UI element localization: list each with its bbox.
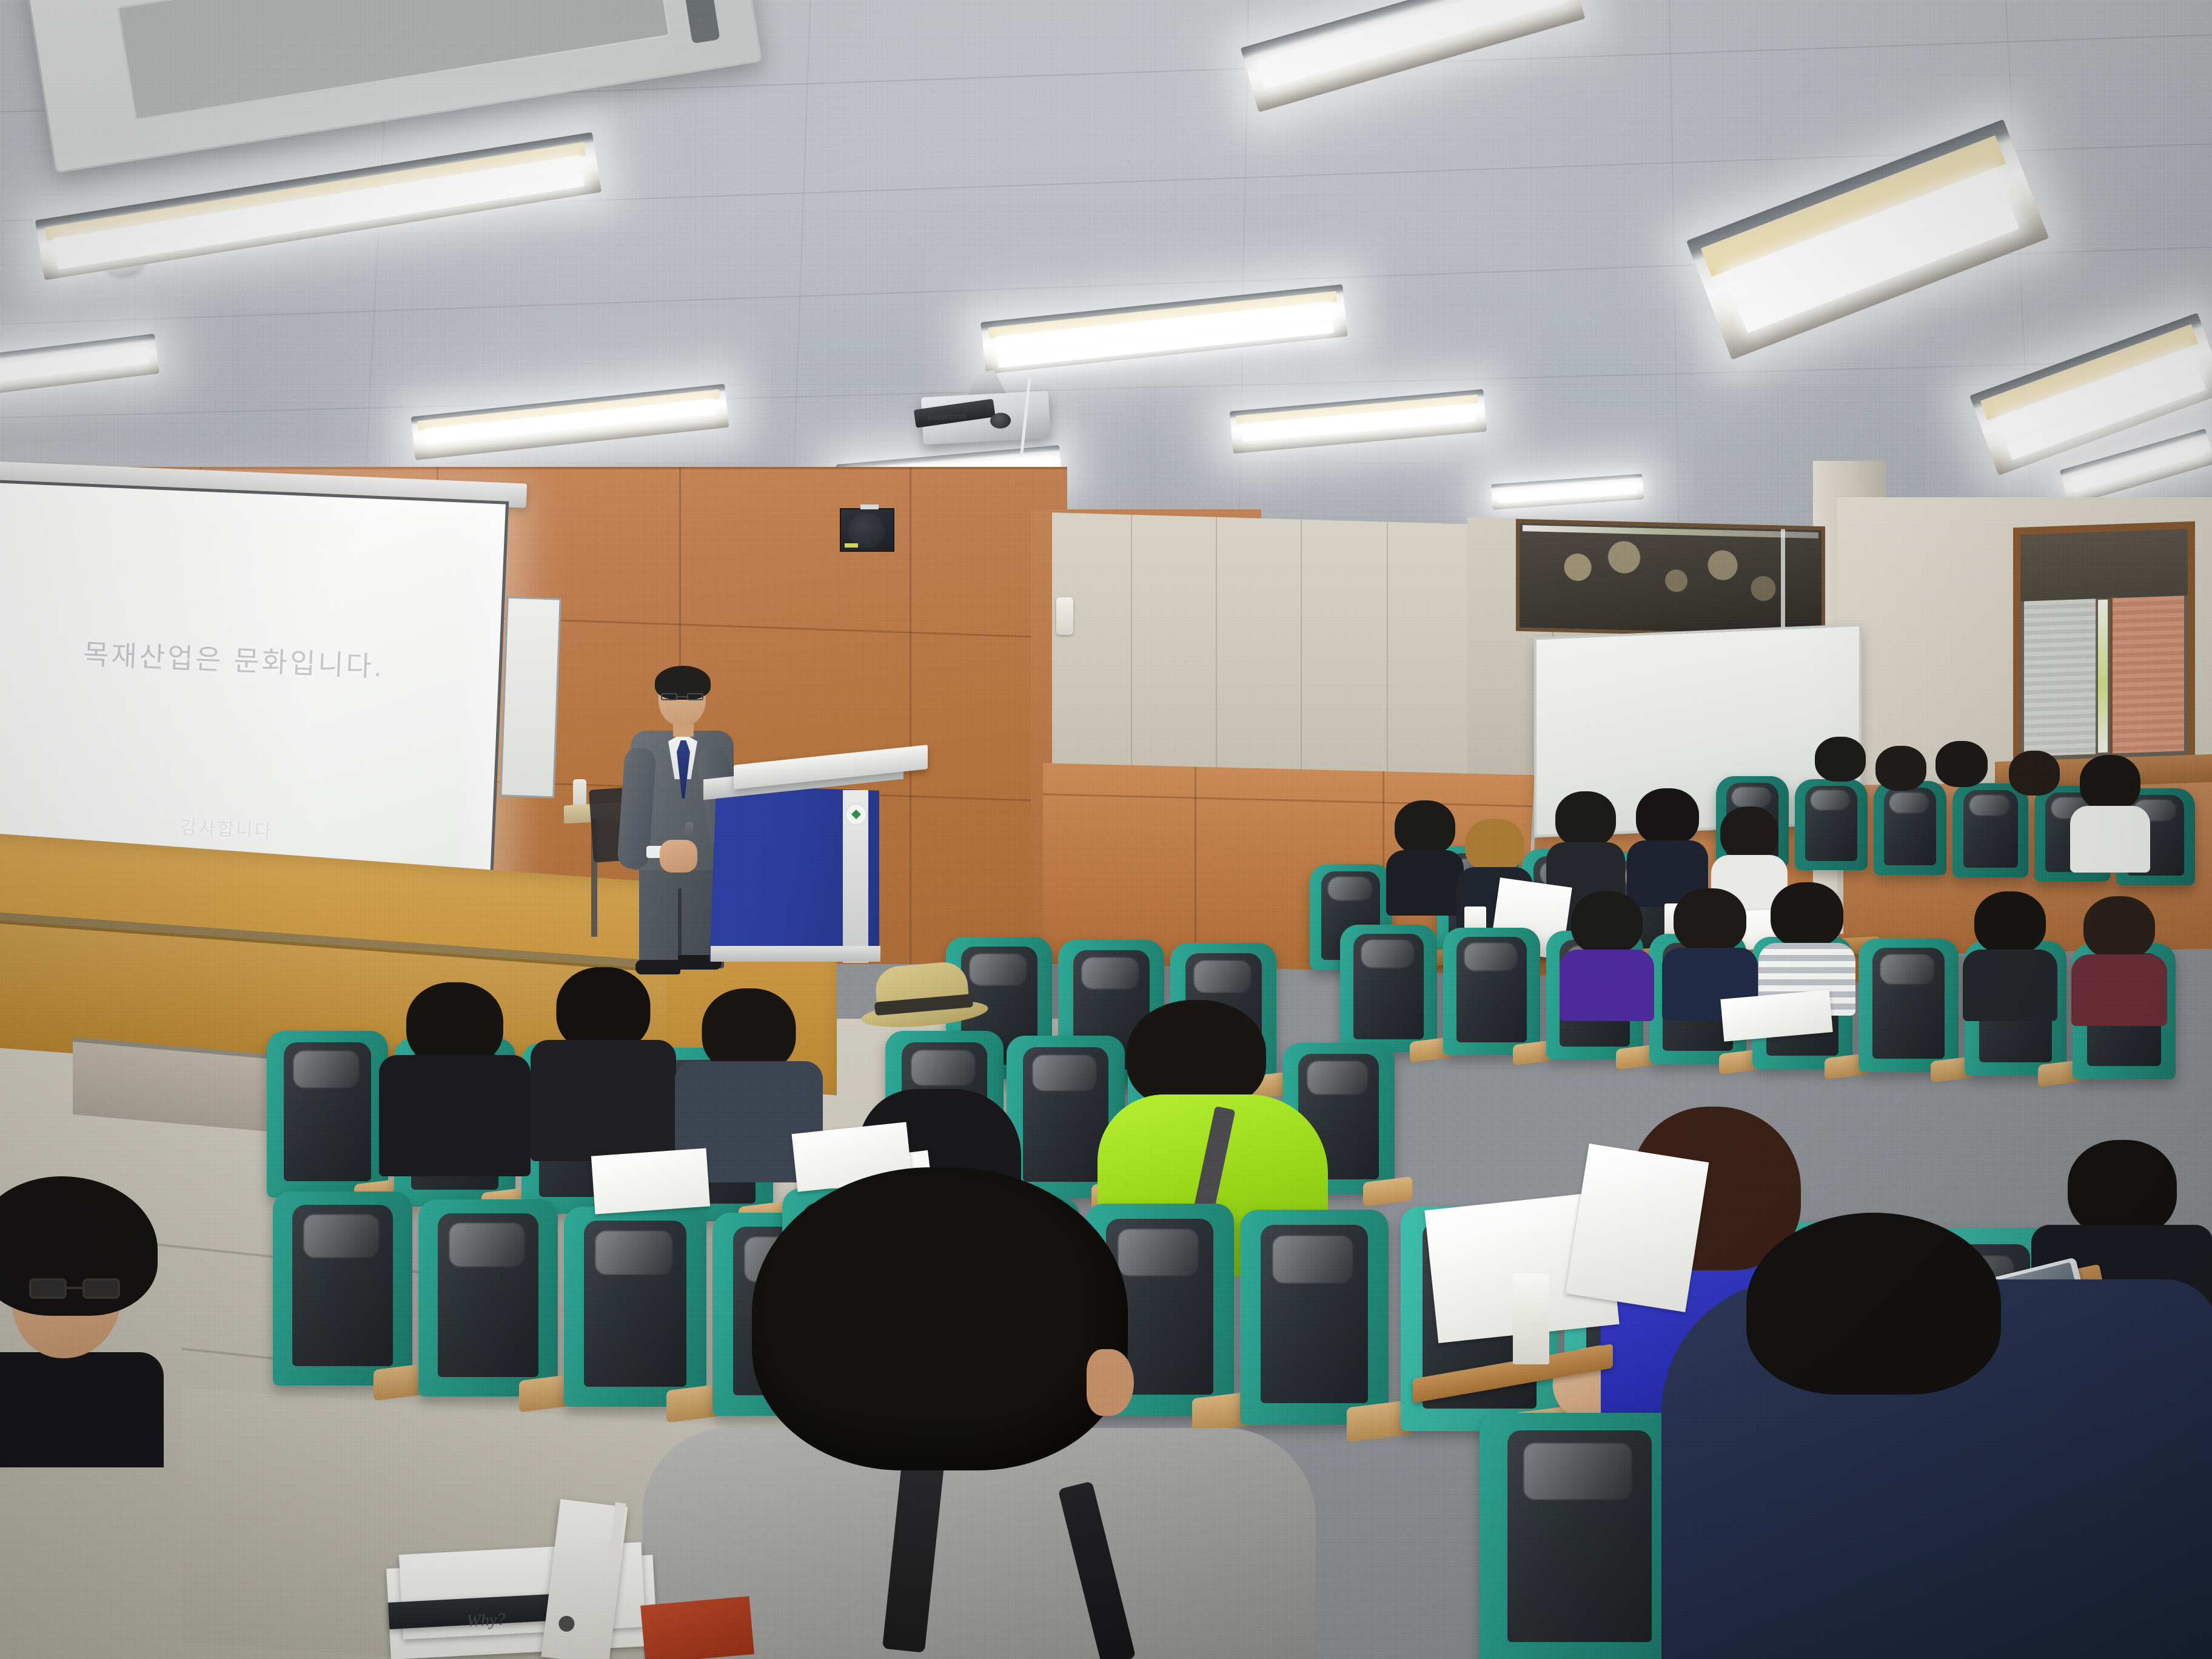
auditorium-seat xyxy=(267,1031,388,1198)
audience-member xyxy=(1874,746,1928,800)
audience-member xyxy=(1761,882,1852,997)
side-wall-board xyxy=(500,597,561,799)
photo-scene: PROJECTOR 목재산업은 문화입 xyxy=(0,0,2212,1659)
audience-member xyxy=(2007,751,2062,805)
lectern-base xyxy=(711,946,880,962)
audience-member xyxy=(2074,896,2165,1011)
audience-member xyxy=(1664,888,1755,1004)
clerestory-window xyxy=(1516,519,1825,638)
straw-hat xyxy=(857,959,990,1042)
audience-member xyxy=(1813,737,1868,791)
book-cover-red xyxy=(640,1596,754,1659)
window-blinds xyxy=(2013,521,2195,770)
ceiling-projector: PROJECTOR xyxy=(920,373,1050,446)
audience-member xyxy=(1389,800,1461,897)
audience-member xyxy=(1561,891,1652,1007)
glasses-icon xyxy=(661,693,703,700)
audience-member xyxy=(2074,755,2147,852)
audience-member xyxy=(1549,791,1622,888)
auditorium-seat xyxy=(273,1191,412,1386)
person-foreground-right-hair xyxy=(1746,1213,2001,1395)
audience-member xyxy=(1631,788,1704,885)
wall-light-fixture xyxy=(1056,597,1073,635)
auditorium-seat xyxy=(1795,779,1868,870)
lectern-emblem xyxy=(845,803,868,826)
person-foreground-glasses xyxy=(0,1176,176,1431)
auditorium-seat xyxy=(1443,928,1540,1055)
auditorium-seat xyxy=(1480,1413,1680,1659)
printed-handout: Why? xyxy=(385,1530,670,1659)
glasses-icon xyxy=(29,1278,120,1299)
auditorium-seat xyxy=(418,1199,558,1396)
drink-cup xyxy=(1513,1273,1549,1364)
handout-paper xyxy=(1566,1144,1709,1312)
slide-title: 목재산업은 문화입니다. xyxy=(0,628,500,690)
person-foreground-gray-shirt xyxy=(655,1167,1310,1659)
audience-member xyxy=(1965,891,2056,1007)
acoustic-panel xyxy=(1052,512,1476,791)
auditorium-seat xyxy=(1340,925,1437,1052)
audience-member xyxy=(534,967,673,1149)
auditorium-seat xyxy=(1858,939,1959,1072)
audience-member xyxy=(382,982,528,1164)
handout-text: Why? xyxy=(466,1610,506,1631)
wall-speaker xyxy=(840,508,894,552)
audience-member xyxy=(1934,741,1989,796)
